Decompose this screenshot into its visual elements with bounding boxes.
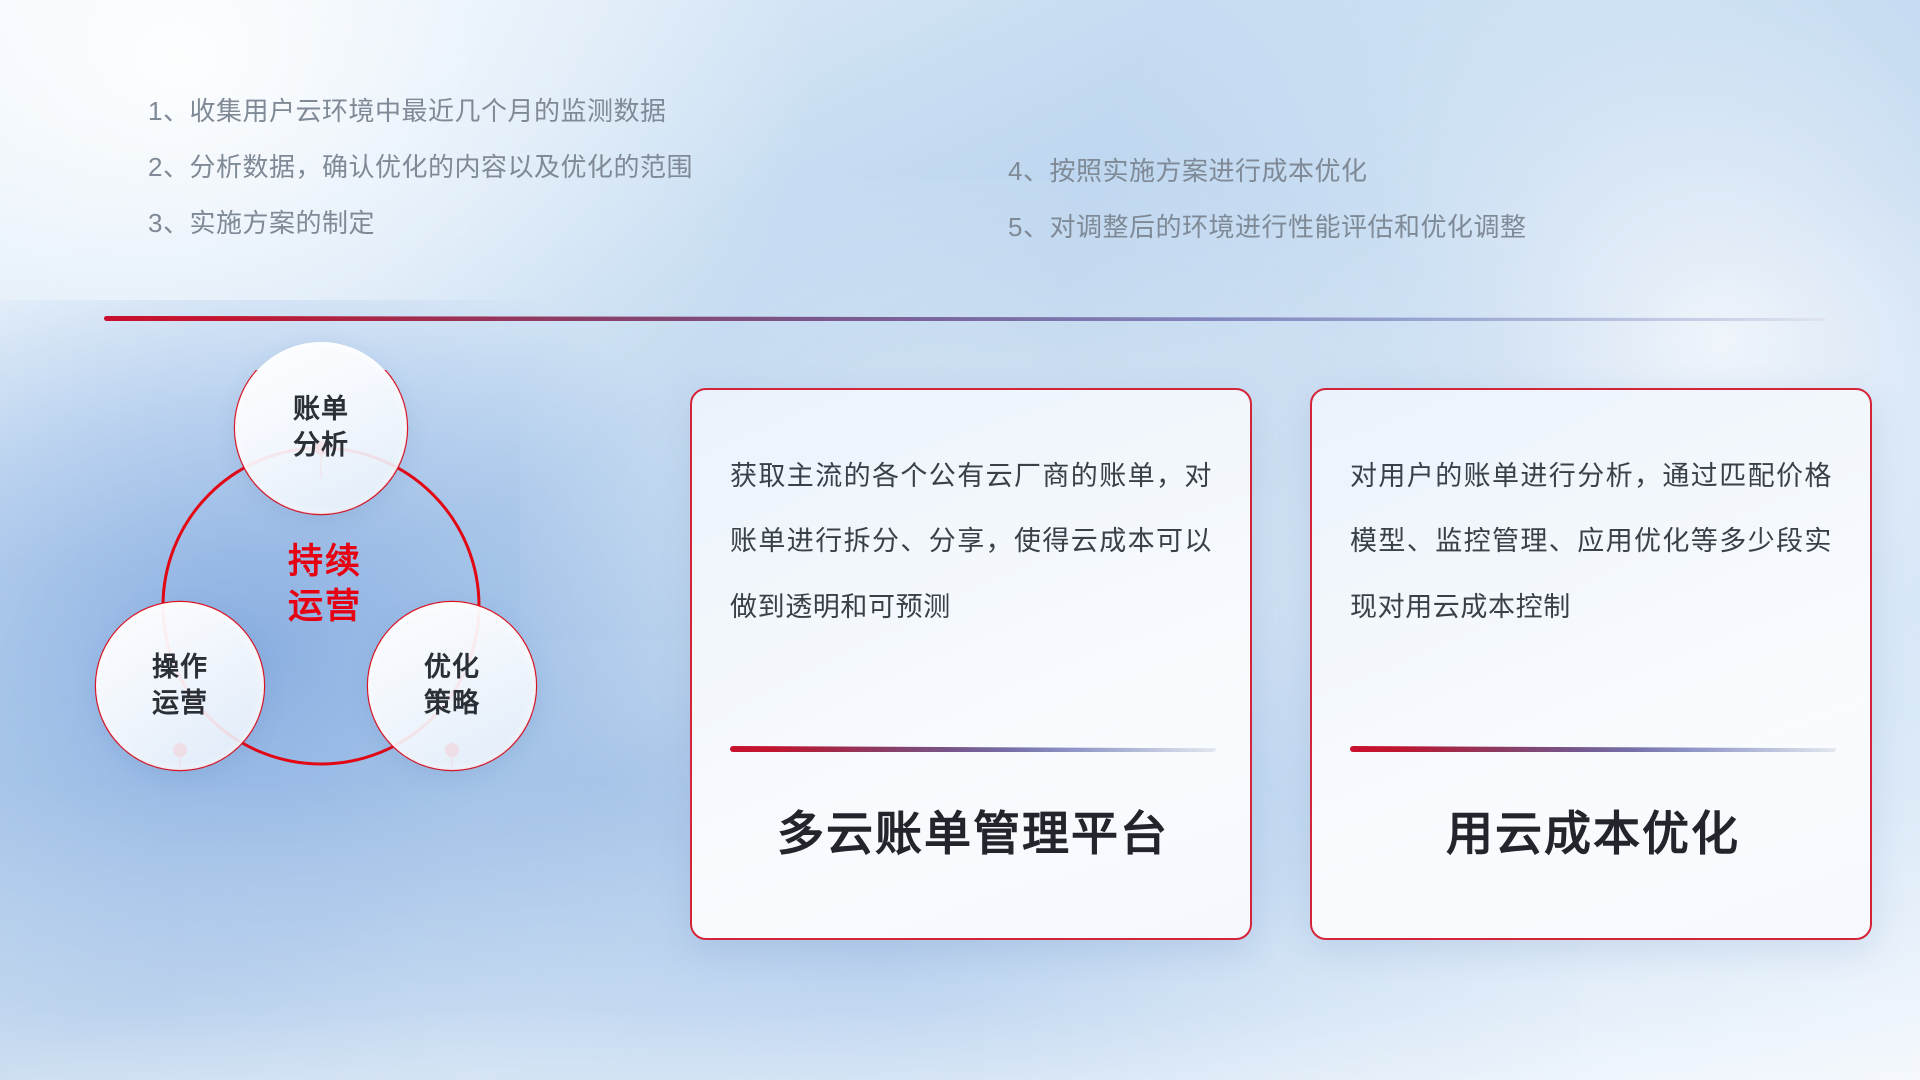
diagram-node-operations[interactable]: 操作运营 (96, 602, 264, 770)
step-item: 5、对调整后的环境进行性能评估和优化调整 (1008, 214, 1526, 240)
diagram-center-label: 持续运营 (250, 540, 400, 630)
diagram-node-label: 账单分析 (293, 392, 349, 463)
card-body-text: 对用户的账单进行分析，通过匹配价格模型、监控管理、应用优化等多少段实现对用云成本… (1350, 444, 1832, 640)
card-divider-line (1350, 746, 1836, 752)
steps-list-left: 1、收集用户云环境中最近几个月的监测数据 2、分析数据，确认优化的内容以及优化的… (148, 98, 693, 236)
card-divider-line (730, 746, 1216, 752)
diagram-node-label: 操作运营 (152, 650, 208, 721)
card-title: 多云账单管理平台 (730, 795, 1216, 864)
step-item: 4、按照实施方案进行成本优化 (1008, 158, 1526, 184)
card-body-text: 获取主流的各个公有云厂商的账单，对账单进行拆分、分享，使得云成本可以做到透明和可… (730, 444, 1212, 640)
card-title: 用云成本优化 (1350, 795, 1836, 864)
steps-list-right: 4、按照实施方案进行成本优化 5、对调整后的环境进行性能评估和优化调整 (1008, 158, 1526, 240)
diagram-node-bill-analysis[interactable]: 账单分析 (235, 342, 407, 514)
step-item: 2、分析数据，确认优化的内容以及优化的范围 (148, 154, 693, 180)
step-item: 3、实施方案的制定 (148, 210, 693, 236)
step-item: 1、收集用户云环境中最近几个月的监测数据 (148, 98, 693, 124)
info-card-cloud-cost-optimization[interactable]: 对用户的账单进行分析，通过匹配价格模型、监控管理、应用优化等多少段实现对用云成本… (1310, 388, 1872, 940)
continuous-operation-diagram: 账单分析 操作运营 优化策略 持续运营 (90, 370, 650, 950)
diagram-node-label: 优化策略 (424, 650, 480, 721)
info-card-multicloud-billing[interactable]: 获取主流的各个公有云厂商的账单，对账单进行拆分、分享，使得云成本可以做到透明和可… (690, 388, 1252, 940)
